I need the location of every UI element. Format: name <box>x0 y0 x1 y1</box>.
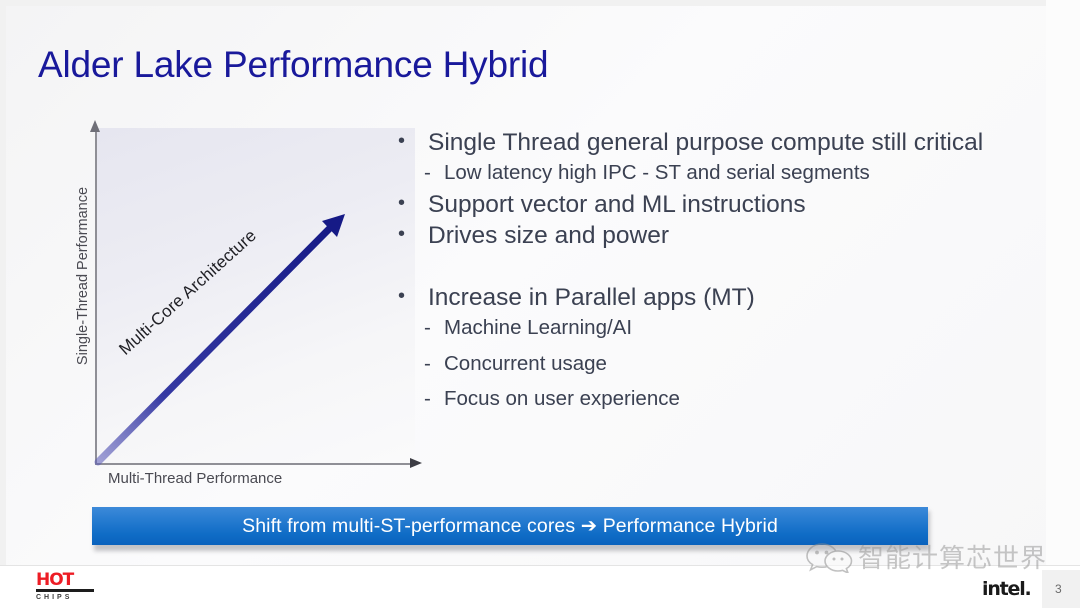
bullet-item: • Support vector and ML instructions <box>398 190 1063 220</box>
bullet-text: Increase in Parallel apps (MT) <box>428 283 755 313</box>
bullet-item: • Single Thread general purpose compute … <box>398 128 1063 158</box>
bullet-marker-icon: • <box>398 128 428 155</box>
bullet-marker-icon: • <box>398 283 428 310</box>
wechat-icon <box>806 541 854 573</box>
sub-bullet-text: Concurrent usage <box>444 351 607 378</box>
sub-bullet-marker-icon: - <box>424 386 444 413</box>
watermark-text: 智能计算芯世界 <box>858 538 1047 575</box>
hot-chips-logo: HOT CHIPS <box>36 573 94 601</box>
chart-y-axis <box>95 126 97 464</box>
bullet-list: • Single Thread general purpose compute … <box>398 128 1063 422</box>
y-axis-arrow-icon <box>90 120 100 132</box>
page-number: 3 <box>1055 582 1062 596</box>
slide-canvas: Alder Lake Performance Hybrid Multi-Core… <box>0 0 1080 608</box>
sub-bullet-marker-icon: - <box>424 160 444 187</box>
callout-banner: Shift from multi-ST-performance cores ➔ … <box>92 507 928 545</box>
sub-bullet-text: Machine Learning/AI <box>444 315 632 342</box>
bullet-marker-icon: • <box>398 190 428 217</box>
bullet-text: Support vector and ML instructions <box>428 190 806 220</box>
sub-bullet-marker-icon: - <box>424 315 444 342</box>
bullet-marker-icon: • <box>398 221 428 248</box>
bullet-text: Single Thread general purpose compute st… <box>428 128 983 158</box>
chart-x-axis-label: Multi-Thread Performance <box>108 470 282 487</box>
bullet-text: Drives size and power <box>428 221 669 251</box>
sub-bullet-marker-icon: - <box>424 351 444 378</box>
chart-y-axis-label: Single-Thread Performance <box>75 161 91 391</box>
wechat-watermark: 智能计算芯世界 <box>806 538 1047 575</box>
sub-bullet-text: Low latency high IPC - ST and serial seg… <box>444 160 870 187</box>
intel-logo-dot: . <box>1025 578 1031 600</box>
bullet-group-spacer <box>398 253 1063 283</box>
chart-x-axis <box>95 463 417 465</box>
bullet-item: • Increase in Parallel apps (MT) <box>398 283 1063 313</box>
intel-wordmark: intel <box>982 578 1025 600</box>
x-axis-arrow-icon <box>410 458 422 468</box>
chart-plot-area <box>95 128 415 463</box>
performance-chart: Multi-Core Architecture Single-Thread Pe… <box>60 118 440 488</box>
callout-banner-wrapper: Shift from multi-ST-performance cores ➔ … <box>92 507 928 548</box>
bullet-item: • Drives size and power <box>398 221 1063 251</box>
hot-chips-subtext: CHIPS <box>36 594 94 601</box>
sub-bullet-item: - Low latency high IPC - ST and serial s… <box>398 160 1063 187</box>
hot-chips-wordmark: HOT <box>36 573 94 588</box>
sub-bullet-item: - Machine Learning/AI <box>398 315 1063 342</box>
sub-bullet-item: - Focus on user experience <box>398 386 1063 413</box>
intel-logo: intel. <box>982 578 1031 600</box>
sub-bullet-item: - Concurrent usage <box>398 351 1063 378</box>
sub-bullet-text: Focus on user experience <box>444 386 680 413</box>
callout-banner-text: Shift from multi-ST-performance cores ➔ … <box>242 514 778 538</box>
page-title: Alder Lake Performance Hybrid <box>38 44 548 86</box>
